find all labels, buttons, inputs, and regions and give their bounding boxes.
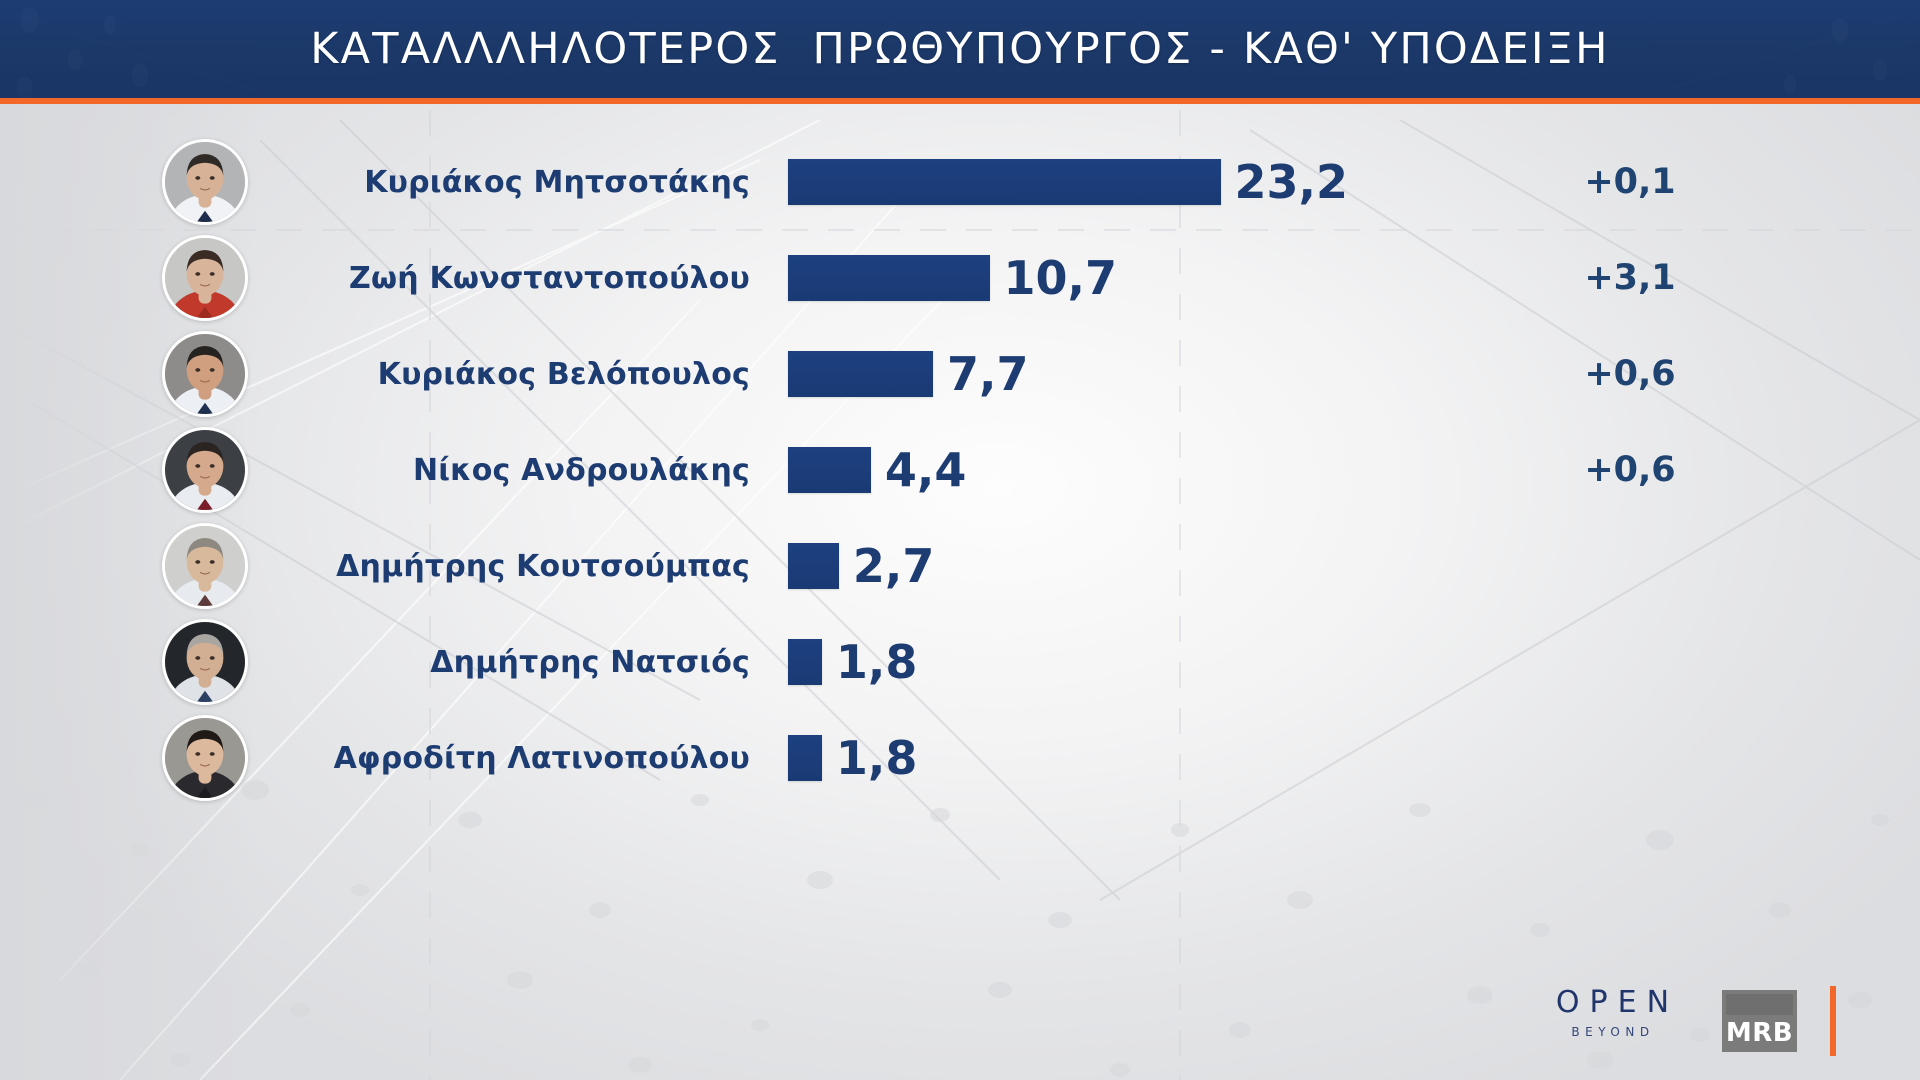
open-tagline: BEYOND [1528,1025,1698,1039]
bar-and-value: 10,7 [788,230,1348,326]
avatar-zoi-konstantopoulou [162,235,248,321]
change-label: +0,1 [1500,162,1760,202]
candidate-name: Κυριάκος Μητσοτάκης [260,165,750,200]
mrb-label: MRB [1726,1018,1793,1048]
value-bar [788,351,933,397]
change-label: +3,1 [1500,258,1760,298]
bar-and-value: 4,4 [788,422,1348,518]
footer-accent-bar [1830,986,1836,1056]
bar-and-value: 1,8 [788,710,1348,806]
value-label: 4,4 [885,443,967,497]
change-label: +0,6 [1500,354,1760,394]
open-wordmark: O P E N [1528,988,1698,1018]
open-letter-e: E [1618,988,1638,1018]
change-label: +0,6 [1500,450,1760,490]
value-label: 1,8 [836,635,918,689]
footer-logos: O P E N BEYOND MRB [1500,960,1920,1080]
candidate-name: Δημήτρης Νατσιός [260,645,750,680]
mrb-top-bar [1726,994,1793,1015]
value-bar [788,447,871,493]
avatar-afroditi-latinopoulou [162,715,248,801]
open-letter-o: O [1556,988,1581,1018]
bar-and-value: 2,7 [788,518,1348,614]
chart-row: Δημήτρης Νατσιός1,8 [0,614,1920,710]
chart-row: Κυριάκος Μητσοτάκης23,2+0,1 [0,134,1920,230]
open-letter-p: P [1590,988,1609,1018]
chart-row: Ζωή Κωνσταντοπούλου10,7+3,1 [0,230,1920,326]
candidate-name: Νίκος Ανδρουλάκης [260,453,750,488]
page-title: ΚΑΤΑΛΛΛΗΛΟΤΕΡΟΣ ΠΡΩΘΥΠΟΥΡΓΟΣ - ΚΑΘ' ΥΠΟΔ… [0,0,1920,98]
candidate-name: Ζωή Κωνσταντοπούλου [260,261,750,296]
value-label: 23,2 [1235,155,1349,209]
open-beyond-logo: O P E N BEYOND [1528,988,1698,1039]
bar-and-value: 23,2 [788,134,1348,230]
value-label: 2,7 [853,539,935,593]
bar-and-value: 7,7 [788,326,1348,422]
bar-and-value: 1,8 [788,614,1348,710]
avatar-kyriakos-mitsotakis [162,139,248,225]
value-label: 1,8 [836,731,918,785]
value-bar [788,255,990,301]
header-bar: ΚΑΤΑΛΛΛΗΛΟΤΕΡΟΣ ΠΡΩΘΥΠΟΥΡΓΟΣ - ΚΑΘ' ΥΠΟΔ… [0,0,1920,104]
chart-row: Νίκος Ανδρουλάκης4,4+0,6 [0,422,1920,518]
chart-row: Αφροδίτη Λατινοπούλου1,8 [0,710,1920,806]
candidate-name: Δημήτρης Κουτσούμπας [260,549,750,584]
candidate-name: Κυριάκος Βελόπουλος [260,357,750,392]
value-bar [788,735,822,781]
open-letter-n: N [1647,988,1670,1018]
avatar-dimitris-koutsoumpas [162,523,248,609]
value-bar [788,639,822,685]
mrb-logo: MRB [1722,990,1797,1052]
chart-row: Δημήτρης Κουτσούμπας2,7 [0,518,1920,614]
avatar-nikos-androulakis [162,427,248,513]
value-bar [788,159,1221,205]
avatar-dimitris-natsios [162,619,248,705]
value-label: 7,7 [947,347,1029,401]
value-bar [788,543,839,589]
candidate-name: Αφροδίτη Λατινοπούλου [260,741,750,776]
avatar-kyriakos-velopoulos [162,331,248,417]
chart-row: Κυριάκος Βελόπουλος7,7+0,6 [0,326,1920,422]
value-label: 10,7 [1004,251,1118,305]
bar-chart-rows: Κυριάκος Μητσοτάκης23,2+0,1Ζωή Κωνσταντο… [0,104,1920,964]
